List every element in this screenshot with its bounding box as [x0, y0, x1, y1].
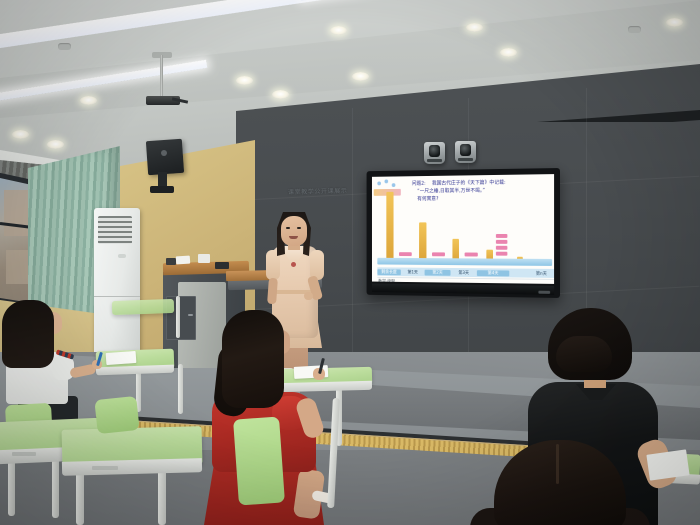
- exterior-building: [6, 250, 28, 284]
- whiteboard-brand-logo: [538, 291, 550, 294]
- teacher-hand: [304, 292, 313, 300]
- desk-leg: [178, 364, 183, 414]
- teacher-face: [281, 216, 307, 246]
- camera-strip: [458, 158, 473, 161]
- axis-tick-label: 第3天: [451, 269, 477, 275]
- chart-annotation: [496, 234, 508, 238]
- downlight-icon: [12, 130, 29, 139]
- student-center-hair: [222, 310, 284, 408]
- wall-speaker: [146, 139, 184, 175]
- bar-chart: 剩余长度 第1天 第2天 第3天 第4天 第n天 数学·极限: [376, 188, 553, 262]
- chart-bar: [419, 222, 426, 261]
- wall-panel-seam: [352, 108, 353, 358]
- downlight-icon: [352, 72, 369, 81]
- handout-paper: [646, 449, 689, 480]
- camera-lens-icon: [429, 145, 440, 157]
- downlight-icon: [80, 96, 97, 105]
- desk-paper: [106, 351, 137, 365]
- downlight-icon: [47, 140, 64, 149]
- downlight-icon: [466, 23, 483, 32]
- camera-strip: [427, 159, 442, 162]
- downlight-icon: [236, 76, 253, 85]
- chart-annotation: [496, 246, 508, 250]
- observer-foreground-hair-part: [556, 444, 559, 484]
- chart-annotation: [496, 252, 508, 256]
- decoration-dot: [392, 183, 396, 187]
- podium-item-keyboard: [215, 262, 229, 269]
- chart-annotation: [399, 252, 412, 256]
- axis-tick-label: 第1天: [401, 269, 425, 275]
- teacher-eye: [297, 227, 301, 229]
- interactive-whiteboard[interactable]: 问题2: 我国古代庄子的《天下篇》中记载: “一尺之棰,日取其半,万世不竭。” …: [367, 168, 560, 298]
- downlight-icon: [330, 26, 347, 35]
- projector-pole: [160, 55, 163, 101]
- observer-right-hair-bun: [556, 336, 612, 372]
- slide-decoration: [376, 179, 399, 189]
- ac-panel-seam: [94, 296, 140, 297]
- desk-leg: [52, 452, 59, 518]
- teacher-eye: [286, 227, 290, 229]
- ceiling-vent-icon: [58, 43, 71, 50]
- question-label: 问题2:: [412, 181, 426, 187]
- speaker-driver-icon: [161, 150, 167, 156]
- exterior-building: [4, 190, 30, 236]
- speaker-mount-base: [150, 186, 174, 193]
- downlight-icon: [500, 48, 517, 57]
- whiteboard-bezel: [372, 283, 554, 294]
- axis-tick-label: 剩余长度: [377, 269, 400, 275]
- chart-footer-row: 数学·极限: [377, 277, 554, 284]
- recording-camera-right: [455, 141, 476, 163]
- chart-annotation: [496, 240, 508, 244]
- camera-lens-icon: [460, 144, 471, 156]
- podium-item-paper: [176, 256, 191, 265]
- teacher-arm: [267, 278, 278, 305]
- downlight-icon: [666, 18, 683, 27]
- podium-item-device: [166, 258, 176, 265]
- recording-camera-left: [424, 142, 445, 164]
- presentation-slide: 问题2: 我国古代庄子的《天下篇》中记载: “一尺之棰,日取其半,万世不竭。” …: [372, 174, 554, 284]
- decoration-dot: [385, 179, 389, 183]
- classroom-photo: 课堂教学公开课展示: [0, 0, 700, 525]
- chart-baseline: [377, 258, 552, 266]
- axis-tick-label: 第n天: [529, 270, 554, 276]
- wall-banner-text: 课堂教学公开课展示: [288, 185, 372, 199]
- student-desk: [112, 299, 174, 315]
- teacher-badge: [291, 262, 296, 267]
- ceiling-vent-icon: [628, 26, 641, 33]
- classroom-chair-back: [233, 417, 285, 506]
- whiteboard-screen[interactable]: 问题2: 我国古代庄子的《天下篇》中记载: “一尺之棰,日取其半,万世不竭。” …: [372, 174, 554, 284]
- desk-leg: [176, 296, 180, 338]
- podium-item-paper: [198, 254, 210, 263]
- ac-vent-grille: [98, 216, 132, 244]
- desk-leg: [8, 456, 15, 516]
- chart-bar: [386, 192, 393, 261]
- ac-display-icon: [118, 254, 126, 258]
- desk-book-slot: [12, 452, 36, 456]
- podium-door-handle[interactable]: [188, 314, 193, 316]
- classroom-chair-back: [94, 396, 139, 434]
- question-line-1: 我国古代庄子的《天下篇》中记载:: [432, 180, 506, 187]
- decoration-dot: [377, 181, 381, 185]
- student-left-hair: [2, 300, 54, 368]
- desk-book-slot: [92, 466, 118, 470]
- chart-annotation: [465, 253, 478, 257]
- desk-leg: [158, 470, 166, 525]
- chart-annotation: [432, 252, 445, 256]
- axis-tick-label: 第4天: [477, 270, 509, 276]
- downlight-icon: [272, 90, 289, 99]
- axis-tick-label: 第2天: [425, 269, 451, 275]
